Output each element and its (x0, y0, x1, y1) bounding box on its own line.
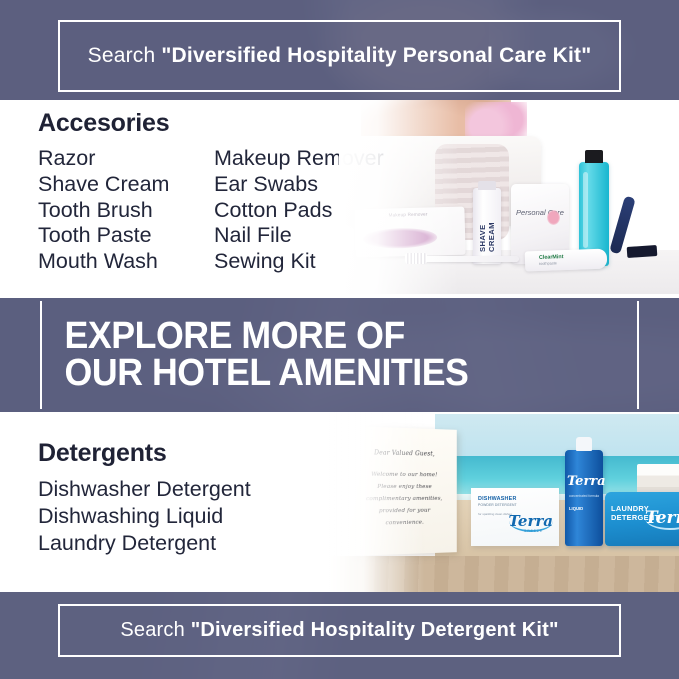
bottom-banner-text: Search "Diversified Hospitality Detergen… (60, 619, 619, 642)
list-item: Shave Cream (38, 172, 169, 198)
beach-sky (435, 414, 679, 458)
list-item: Tooth Brush (38, 198, 169, 224)
bottle-cap (585, 150, 603, 163)
disposable-razor (611, 196, 667, 266)
explore-more-banner: EXPLORE MORE OF OUR HOTEL AMENITIES (0, 298, 679, 412)
sachet-title: DISHWASHER (478, 496, 517, 502)
toothpaste-subtitle: toothpaste (539, 261, 557, 266)
list-item: Mouth Wash (38, 249, 169, 275)
tube-cap (478, 181, 496, 190)
pouch-label: Personal Care (511, 208, 569, 217)
explore-headline: EXPLORE MORE OF OUR HOTEL AMENITIES (42, 318, 601, 392)
terra-brand-logo: Terra (567, 474, 606, 489)
list-item: Dishwashing Liquid (38, 503, 251, 530)
promo-infographic: Search "Diversified Hospitality Personal… (0, 0, 679, 679)
dishwasher-detergent-sachet: DISHWASHER POWDER DETERGENT for sparklin… (471, 488, 559, 546)
headline-line-2: OUR HOTEL AMENITIES (65, 355, 602, 392)
bottom-banner-frame: Search "Diversified Hospitality Detergen… (58, 604, 621, 657)
liquid-bottle-cap (576, 437, 592, 451)
photo-left-fade (339, 100, 459, 298)
list-item: Razor (38, 146, 169, 172)
terra-brand-sub: BREEZE (524, 529, 543, 533)
detergents-section: Dear Valued Guest, Welcome to our home! … (0, 412, 679, 592)
liquid-note: concentrated formula (569, 494, 599, 498)
toothpaste-brand: ClearMint (539, 254, 564, 261)
dishwashing-liquid-bottle: Terra concentrated formula LIQUID (565, 450, 603, 546)
laundry-line-1: LAUNDRY (611, 504, 649, 513)
bottom-banner-prefix: Search (120, 619, 190, 641)
detergent-kit-photo: Dear Valued Guest, Welcome to our home! … (329, 412, 679, 592)
headline-line-1: EXPLORE MORE OF (65, 315, 405, 357)
bottom-banner-query: "Diversified Hospitality Detergent Kit" (191, 619, 559, 641)
sachet-subtitle: POWDER DETERGENT (478, 503, 517, 507)
laundry-detergent-pack: LAUNDRY DETERGENT Terra (605, 492, 679, 546)
list-item: Dishwasher Detergent (38, 476, 251, 503)
bottle-highlight (583, 172, 588, 248)
accessories-section: Makeup Remover SHAVE CREAM Personal Care (0, 100, 679, 298)
personal-care-kit-photo: Makeup Remover SHAVE CREAM Personal Care (339, 100, 679, 298)
list-item: Laundry Detergent (38, 530, 251, 557)
bottom-search-banner: Search "Diversified Hospitality Detergen… (0, 592, 679, 679)
detergents-list: Dishwasher Detergent Dishwashing Liquid … (38, 476, 251, 557)
top-banner-query: "Diversified Hospitality Personal Care K… (161, 44, 591, 67)
photo-left-fade (329, 412, 425, 592)
top-banner-prefix: Search (88, 44, 162, 67)
razor-head (627, 245, 658, 258)
accessories-title: Accesories (38, 109, 169, 138)
top-banner-text: Search "Diversified Hospitality Personal… (60, 44, 619, 68)
terra-brand-logo: Terra (645, 508, 679, 528)
mid-banner-frame: EXPLORE MORE OF OUR HOTEL AMENITIES (40, 301, 639, 409)
shave-cream-label: SHAVE CREAM (473, 202, 501, 252)
pouch-accent-graphic (547, 210, 560, 225)
accessories-column-left: Razor Shave Cream Tooth Brush Tooth Past… (38, 146, 169, 275)
terra-brand-logo: Terra (508, 512, 553, 530)
razor-handle (609, 196, 636, 255)
toothpaste-tube: ClearMint toothpaste (525, 249, 608, 272)
liquid-type: LIQUID (569, 506, 583, 511)
detergents-title: Detergents (38, 439, 167, 468)
top-search-banner: Search "Diversified Hospitality Personal… (0, 0, 679, 100)
top-banner-frame: Search "Diversified Hospitality Personal… (58, 20, 621, 92)
list-item: Tooth Paste (38, 223, 169, 249)
